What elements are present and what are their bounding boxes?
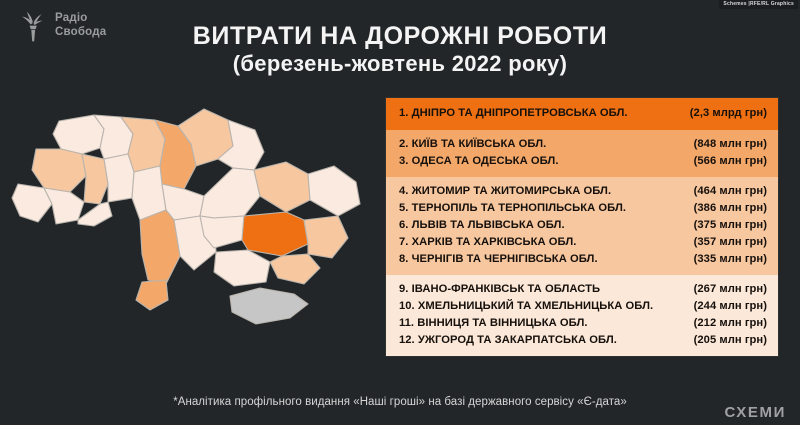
region-dnipropetrovsk: [242, 212, 308, 256]
row-amount: (375 млн грн): [694, 217, 767, 234]
region-lviv: [32, 149, 86, 192]
ranking-panel: 1. ДНІПРО ТА ДНІПРОПЕТРОВСЬКА ОБЛ. (2,3 …: [386, 98, 778, 356]
row-label: 10. ХМЕЛЬНИЦЬКИЙ ТА ХМЕЛЬНИЦЬКА ОБЛ.: [399, 298, 653, 315]
row-amount: (386 млн грн): [694, 200, 767, 217]
ukraine-choropleth-map: [8, 104, 380, 359]
row-label: 5. ТЕРНОПІЛЬ ТА ТЕРНОПІЛЬСЬКА ОБЛ.: [399, 200, 626, 217]
table-row[interactable]: 4. ЖИТОМИР ТА ЖИТОМИРСЬКА ОБЛ. (464 млн …: [386, 183, 778, 200]
ranking-group-tier4: 9. ІВАНО-ФРАНКІВСЬК ТА ОБЛАСТЬ (267 млн …: [386, 275, 778, 356]
page-title: ВИТРАТИ НА ДОРОЖНІ РОБОТИ (березень-жовт…: [0, 22, 800, 77]
source-watermark: Schemes |RFE/RL Graphics: [719, 0, 798, 9]
table-row[interactable]: 2. КИЇВ ТА КИЇВСЬКА ОБЛ. (848 млн грн): [386, 136, 778, 153]
row-amount: (244 млн грн): [694, 298, 767, 315]
region-crimea: [230, 288, 308, 324]
title-subtitle: (березень-жовтень 2022 року): [0, 51, 800, 77]
row-label: 12. УЖГОРОД ТА ЗАКАРПАТСЬКА ОБЛ.: [399, 332, 617, 349]
row-amount: (205 млн грн): [694, 332, 767, 349]
region-kharkiv: [254, 162, 310, 212]
row-amount: (335 млн грн): [694, 251, 767, 268]
region-poltava: [200, 168, 260, 218]
source-footnote: *Аналітика профільного видання «Наші гро…: [0, 396, 800, 408]
table-row[interactable]: 11. ВІННИЦЯ ТА ВІННИЦЬКА ОБЛ. (212 млн г…: [386, 315, 778, 332]
row-label: 1. ДНІПРО ТА ДНІПРОПЕТРОВСЬКА ОБЛ.: [399, 105, 628, 122]
region-khmelnytskyi: [104, 154, 134, 202]
row-label: 4. ЖИТОМИР ТА ЖИТОМИРСЬКА ОБЛ.: [399, 183, 611, 200]
table-row[interactable]: 7. ХАРКІВ ТА ХАРКІВСЬКА ОБЛ. (357 млн гр…: [386, 234, 778, 251]
row-amount: (357 млн грн): [694, 234, 767, 251]
row-label: 7. ХАРКІВ ТА ХАРКІВСЬКА ОБЛ.: [399, 234, 576, 251]
infographic-root: Schemes |RFE/RL Graphics Радіо Свобода В…: [0, 0, 800, 425]
row-label: 9. ІВАНО-ФРАНКІВСЬК ТА ОБЛАСТЬ: [399, 281, 600, 298]
ranking-group-tier1: 1. ДНІПРО ТА ДНІПРОПЕТРОВСЬКА ОБЛ. (2,3 …: [386, 98, 778, 130]
row-amount: (464 млн грн): [694, 183, 767, 200]
row-label: 3. ОДЕСА ТА ОДЕСЬКА ОБЛ.: [399, 153, 558, 170]
table-row[interactable]: 6. ЛЬВІВ ТА ЛЬВІВСЬКА ОБЛ. (375 млн грн): [386, 217, 778, 234]
region-zaporizhzhia: [270, 254, 320, 284]
row-label: 8. ЧЕРНІГІВ ТА ЧЕРНІГІВСЬКА ОБЛ.: [399, 251, 598, 268]
region-donetsk: [304, 216, 348, 258]
row-amount: (2,3 млрд грн): [690, 105, 767, 122]
ranking-group-tier2: 2. КИЇВ ТА КИЇВСЬКА ОБЛ. (848 млн грн) 3…: [386, 130, 778, 177]
ranking-group-tier3: 4. ЖИТОМИР ТА ЖИТОМИРСЬКА ОБЛ. (464 млн …: [386, 177, 778, 275]
row-amount: (848 млн грн): [694, 136, 767, 153]
region-luhansk: [308, 166, 360, 216]
row-label: 2. КИЇВ ТА КИЇВСЬКА ОБЛ.: [399, 136, 546, 153]
row-label: 11. ВІННИЦЯ ТА ВІННИЦЬКА ОБЛ.: [399, 315, 588, 332]
row-amount: (267 млн грн): [694, 281, 767, 298]
region-kherson: [214, 250, 270, 286]
row-label: 6. ЛЬВІВ ТА ЛЬВІВСЬКА ОБЛ.: [399, 217, 565, 234]
region-odesa-coast: [136, 280, 168, 310]
table-row[interactable]: 3. ОДЕСА ТА ОДЕСЬКА ОБЛ. (566 млн грн): [386, 153, 778, 170]
schemy-logo: СХЕМИ: [724, 404, 786, 421]
title-main: ВИТРАТИ НА ДОРОЖНІ РОБОТИ: [0, 22, 800, 50]
table-row[interactable]: 5. ТЕРНОПІЛЬ ТА ТЕРНОПІЛЬСЬКА ОБЛ. (386 …: [386, 200, 778, 217]
table-row[interactable]: 9. ІВАНО-ФРАНКІВСЬК ТА ОБЛАСТЬ (267 млн …: [386, 281, 778, 298]
table-row[interactable]: 10. ХМЕЛЬНИЦЬКИЙ ТА ХМЕЛЬНИЦЬКА ОБЛ. (24…: [386, 298, 778, 315]
table-row[interactable]: 12. УЖГОРОД ТА ЗАКАРПАТСЬКА ОБЛ. (205 мл…: [386, 332, 778, 349]
region-volyn: [53, 115, 104, 154]
row-amount: (566 млн грн): [694, 153, 767, 170]
table-row[interactable]: 8. ЧЕРНІГІВ ТА ЧЕРНІГІВСЬКА ОБЛ. (335 мл…: [386, 251, 778, 268]
row-amount: (212 млн грн): [694, 315, 767, 332]
table-row[interactable]: 1. ДНІПРО ТА ДНІПРОПЕТРОВСЬКА ОБЛ. (2,3 …: [386, 105, 778, 122]
